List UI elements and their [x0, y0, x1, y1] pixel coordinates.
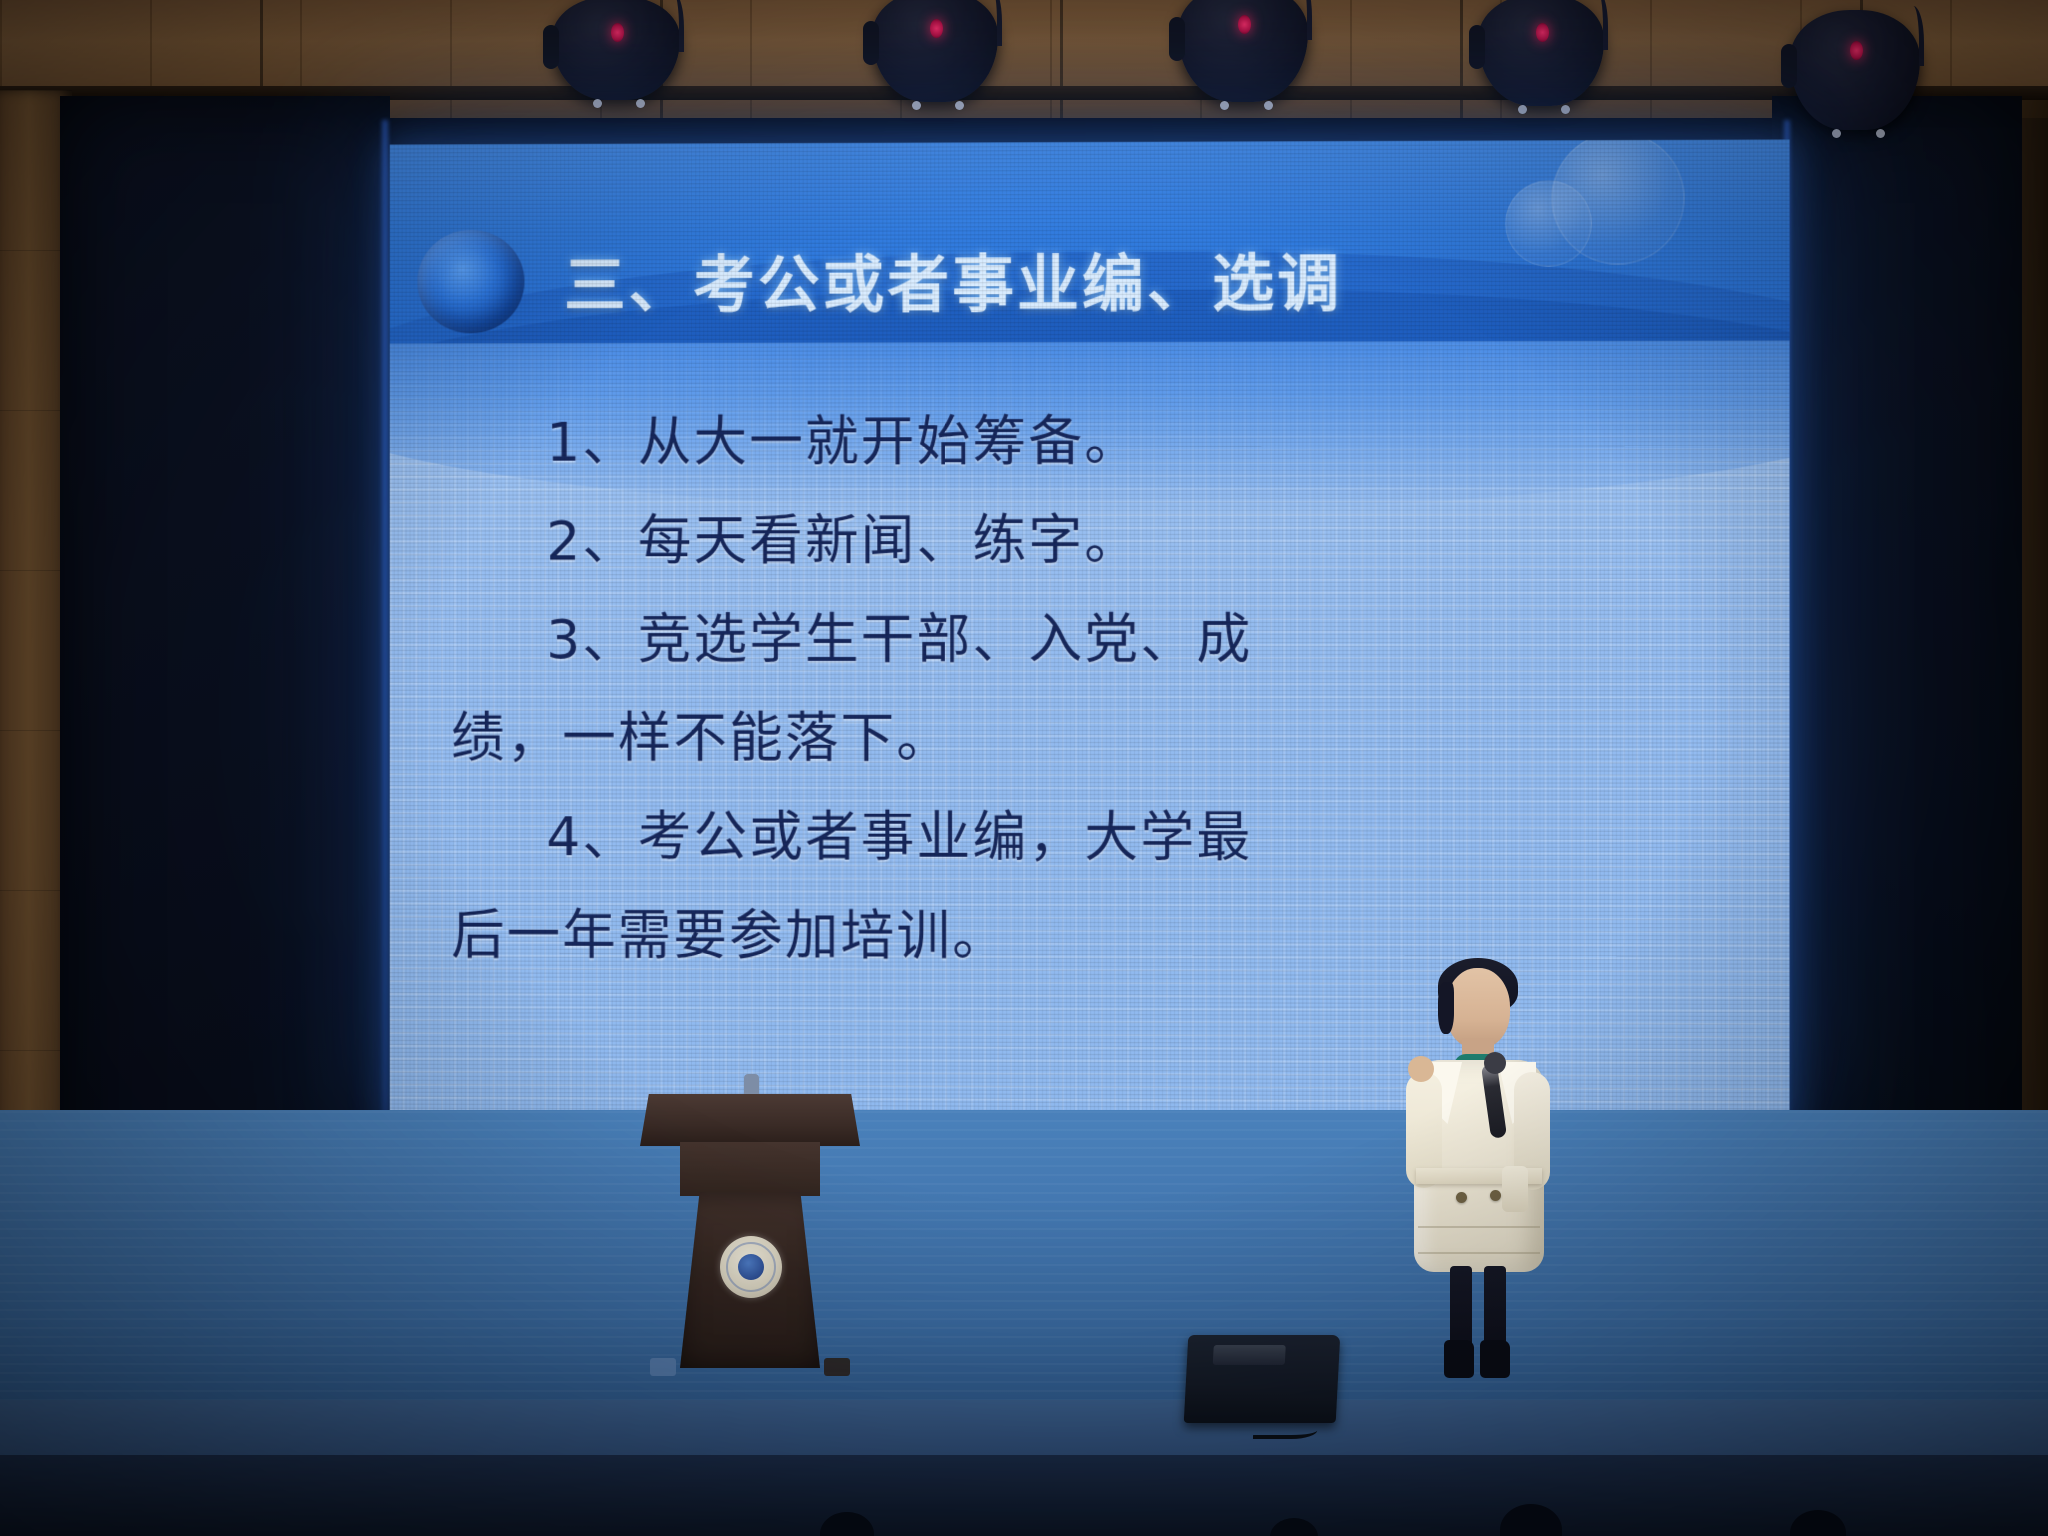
- speaker-cable: [1253, 1417, 1318, 1439]
- slide-body-line-3: 3、竞选学生干部、入党、成: [451, 590, 1678, 689]
- par-light-foot: [1832, 129, 1841, 138]
- slide-body-line-5: 4、考公或者事业编，大学最: [451, 787, 1678, 888]
- microphone-head: [1484, 1052, 1506, 1074]
- slide-body-line-4: 绩，一样不能落下。: [451, 689, 1678, 789]
- presenter-hair-side: [1438, 982, 1454, 1034]
- par-light-yoke: [1469, 25, 1485, 69]
- coat-button: [1456, 1192, 1467, 1203]
- par-light-cable: [984, 0, 1002, 46]
- par-light-1: [552, 0, 680, 100]
- led-presentation-screen[interactable]: 三、考公或者事业编、选调 1、从大一就开始筹备。 2、每天看新闻、练字。 3、竞…: [390, 139, 1790, 1129]
- par-light-3: [1178, 0, 1308, 102]
- audience-head: [1500, 1504, 1562, 1536]
- stage-monitor-speaker: [1184, 1335, 1341, 1423]
- par-light-yoke: [1169, 17, 1185, 61]
- par-light-cable: [1590, 0, 1608, 50]
- slide-surface: 三、考公或者事业编、选调 1、从大一就开始筹备。 2、每天看新闻、练字。 3、竞…: [390, 139, 1790, 1129]
- audience-head: [1790, 1510, 1846, 1536]
- par-light-cable: [666, 0, 684, 52]
- presenter-head: [1446, 968, 1510, 1048]
- par-light-cable: [1294, 0, 1312, 40]
- slide-body-text: 1、从大一就开始筹备。 2、每天看新闻、练字。 3、竞选学生干部、入党、成 绩，…: [451, 391, 1678, 988]
- presenter-hand: [1408, 1056, 1434, 1082]
- audience-head: [1270, 1518, 1318, 1536]
- par-light-yoke: [543, 25, 559, 69]
- par-light-foot: [1264, 101, 1273, 110]
- coat-button: [1490, 1190, 1501, 1201]
- par-light-yoke: [1781, 44, 1797, 88]
- slide-title: 三、考公或者事业编、选调: [564, 232, 1638, 325]
- par-light-led-indicator: [611, 23, 624, 42]
- speaker-grille: [1213, 1345, 1286, 1365]
- ceiling-seam: [1060, 0, 1063, 118]
- par-light-body: [1478, 0, 1604, 106]
- slide-body-line-2: 2、每天看新闻、练字。: [451, 490, 1678, 590]
- venue-scene: 三、考公或者事业编、选调 1、从大一就开始筹备。 2、每天看新闻、练字。 3、竞…: [0, 0, 2048, 1536]
- par-light-led-indicator: [1536, 23, 1549, 42]
- par-light-4: [1478, 0, 1604, 106]
- par-light-foot: [1876, 129, 1885, 138]
- par-light-body: [552, 0, 680, 100]
- par-light-led-indicator: [930, 19, 943, 38]
- par-light-foot: [1220, 101, 1229, 110]
- slide-body-line-1: 1、从大一就开始筹备。: [451, 391, 1678, 492]
- par-light-2: [872, 0, 998, 102]
- lectern-base-right: [824, 1358, 850, 1376]
- coat-quilt-seam: [1418, 1252, 1540, 1254]
- presenter-boot-right: [1480, 1340, 1510, 1378]
- stage-floor: [0, 1110, 2048, 1410]
- audience-head: [820, 1512, 874, 1536]
- lectern-base-left: [650, 1358, 676, 1376]
- presenter-figure: [1394, 960, 1564, 1390]
- stage-apron-dark: [0, 1455, 2048, 1536]
- par-light-led-indicator: [1238, 15, 1251, 34]
- school-crest-emblem: [720, 1236, 782, 1298]
- par-light-body: [1790, 10, 1920, 130]
- lectern[interactable]: [640, 1068, 860, 1368]
- presenter-belt-knot: [1502, 1166, 1528, 1212]
- ceiling-seam: [1460, 0, 1463, 118]
- par-light-yoke: [863, 21, 879, 65]
- par-light-5: [1790, 10, 1920, 130]
- par-light-body: [872, 0, 998, 102]
- presenter-boot-left: [1444, 1340, 1474, 1378]
- par-light-body: [1178, 0, 1308, 102]
- coat-quilt-seam: [1418, 1226, 1540, 1228]
- par-light-foot: [593, 99, 602, 108]
- lectern-top: [640, 1094, 860, 1146]
- par-light-led-indicator: [1850, 41, 1863, 60]
- lectern-neck: [680, 1142, 820, 1196]
- blue-sphere-icon: [417, 230, 524, 334]
